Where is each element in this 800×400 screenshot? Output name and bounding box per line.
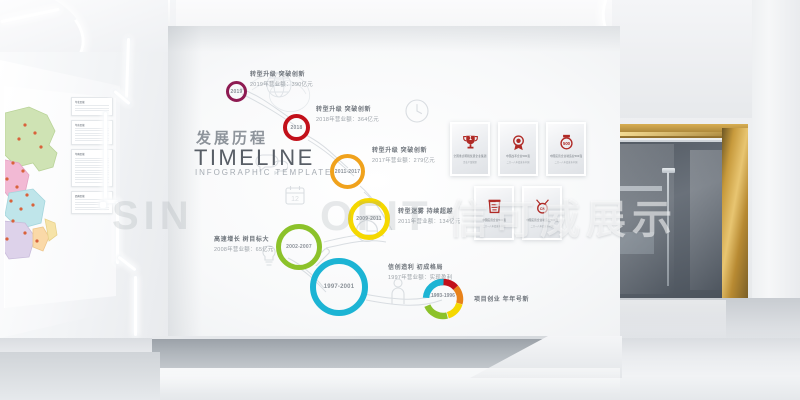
seal-icon bbox=[486, 198, 503, 215]
milestone-heading: 转型升级 突破创新 bbox=[250, 69, 313, 78]
milestone-ring-2002-2007[interactable]: 2002-2007 bbox=[276, 224, 322, 270]
poster-card-title: 华北区域 bbox=[75, 100, 109, 104]
floor-reflection bbox=[120, 368, 620, 394]
left-floor bbox=[0, 352, 160, 400]
right-room-ceiling bbox=[612, 0, 752, 118]
led-strip-segment bbox=[134, 276, 137, 336]
award-title: 中国民营企业制造业500强 bbox=[526, 218, 558, 222]
led-strip-node bbox=[100, 202, 106, 208]
award-glyph: CN bbox=[539, 207, 545, 211]
milestone-label-2019: 转型升级 突破创新 2019年营业额：390亿元 bbox=[250, 69, 313, 88]
milestone-heading: 信创造利 初成格局 bbox=[388, 262, 452, 271]
milestone-heading: 转型迷雾 持续超越 bbox=[398, 206, 461, 215]
milestone-label-2011-2017: 转型升级 突破创新 2017年营业额：279亿元 bbox=[372, 145, 435, 164]
milestone-ring-2011-2017[interactable]: 2011-2017 bbox=[330, 154, 365, 189]
milestone-year: 1997-2001 bbox=[324, 284, 355, 290]
milestone-sub: 2011年营业额：134亿元 bbox=[398, 217, 461, 225]
award-title: 中国改革企业500强 bbox=[506, 154, 530, 158]
milestone-heading: 高速增长 树目标大 bbox=[214, 234, 274, 243]
led-strip-segment bbox=[104, 112, 107, 204]
milestone-sub: 2018年营业额：364亿元 bbox=[316, 115, 379, 123]
glass-reflection bbox=[614, 144, 674, 294]
china-map-icon bbox=[4, 101, 69, 301]
glass-door-handle-rod[interactable] bbox=[667, 172, 669, 286]
award-frame[interactable]: CN 中国民营企业制造业500强 二〇一八年度发布中国 bbox=[522, 186, 562, 240]
rosette-icon bbox=[510, 134, 527, 151]
milestone-heading: 转型升级 突破创新 bbox=[316, 104, 379, 113]
award-frame[interactable]: 1 全国重点明税优质企业集团 企业产量管理 bbox=[450, 122, 490, 176]
award-sub: 二〇一八年度发布中国 bbox=[507, 160, 530, 164]
person-icon bbox=[390, 278, 406, 306]
trophy-icon: 1 bbox=[462, 134, 479, 151]
china-map-poster: 华北区域 华东区域 华南区域 西南区域 bbox=[4, 86, 118, 310]
award-frame[interactable]: 500 中国民营企业制造业500强 二〇一八年度发布中国 bbox=[546, 122, 586, 176]
timeline-infographic: 12 发展历程 TIMELINE INFOGRAPHIC TEMPLATE 20 bbox=[168, 26, 620, 378]
award-glyph: 500 bbox=[562, 141, 570, 146]
milestone-ring-1997-2001[interactable]: 1997-2001 bbox=[310, 258, 368, 316]
award-sub: 二〇一八年度发布中国 bbox=[531, 224, 554, 228]
clock-icon bbox=[404, 98, 430, 124]
award-frame[interactable]: 中国民营企业500强 二〇一八年度发布中国 bbox=[474, 186, 514, 240]
milestone-year: 2009-2011 bbox=[356, 216, 381, 222]
gold-wall-panel bbox=[722, 128, 748, 300]
milestone-sub: 2008年营业额：65亿元 bbox=[214, 245, 274, 253]
milestone-year: 1993-1996 bbox=[420, 293, 466, 299]
milestone-label-2009-2011: 转型迷雾 持续超越 2011年营业额：134亿元 bbox=[398, 206, 461, 225]
badge-icon: CN bbox=[534, 198, 551, 215]
milestone-heading: 项目创业 年年号新 bbox=[474, 294, 529, 303]
glass-interior-reflection bbox=[614, 232, 654, 254]
award-sub: 二〇一八年度发布中国 bbox=[555, 160, 578, 164]
milestone-heading: 转型升级 突破创新 bbox=[372, 145, 435, 154]
showroom-scene: 华北区域 华东区域 华南区域 西南区域 bbox=[0, 0, 800, 400]
gold-header-glow bbox=[616, 132, 726, 136]
milestone-ring-2009-2011[interactable]: 2009-2011 bbox=[348, 198, 390, 240]
led-strip-segment bbox=[116, 202, 119, 264]
milestone-year: 2019 bbox=[231, 89, 243, 95]
segmented-donut-icon bbox=[420, 276, 466, 322]
milestone-ring-2019[interactable]: 2019 bbox=[226, 81, 247, 102]
award-frame[interactable]: 中国改革企业500强 二〇一八年度发布中国 bbox=[498, 122, 538, 176]
award-sub: 企业产量管理 bbox=[463, 160, 477, 164]
milestone-year: 2018 bbox=[291, 125, 303, 131]
floor-reflection bbox=[616, 300, 726, 342]
award-sub: 二〇一八年度发布中国 bbox=[483, 224, 506, 228]
medal-icon: 500 bbox=[558, 134, 575, 151]
milestone-ring-2018[interactable]: 2018 bbox=[283, 114, 310, 141]
svg-text:12: 12 bbox=[291, 196, 299, 203]
milestone-label-2018: 转型升级 突破创新 2018年营业额：364亿元 bbox=[316, 104, 379, 123]
milestone-label-2002-2007: 高速增长 树目标大 2008年营业额：65亿元 bbox=[214, 234, 274, 253]
award-title: 全国重点明税优质企业集团 bbox=[454, 154, 487, 158]
page-subtitle: INFOGRAPHIC TEMPLATE bbox=[195, 168, 332, 177]
award-glyph: 1 bbox=[469, 136, 472, 142]
milestone-sub: 2017年营业额：279亿元 bbox=[372, 156, 435, 164]
calendar-icon: 12 bbox=[284, 184, 306, 206]
milestone-year: 2002-2007 bbox=[286, 244, 312, 250]
award-title: 中国民营企业500强 bbox=[482, 218, 506, 222]
award-title: 中国民营企业制造业500强 bbox=[550, 154, 582, 158]
milestone-year: 2011-2017 bbox=[335, 169, 360, 175]
glass-interior-reflection bbox=[614, 186, 662, 191]
milestone-sub: 2019年营业额：390亿元 bbox=[250, 80, 313, 88]
milestone-label-1993-1996: 项目创业 年年号新 bbox=[474, 294, 529, 303]
milestone-donut-1993-1996[interactable]: 1993-1996 bbox=[420, 276, 466, 322]
